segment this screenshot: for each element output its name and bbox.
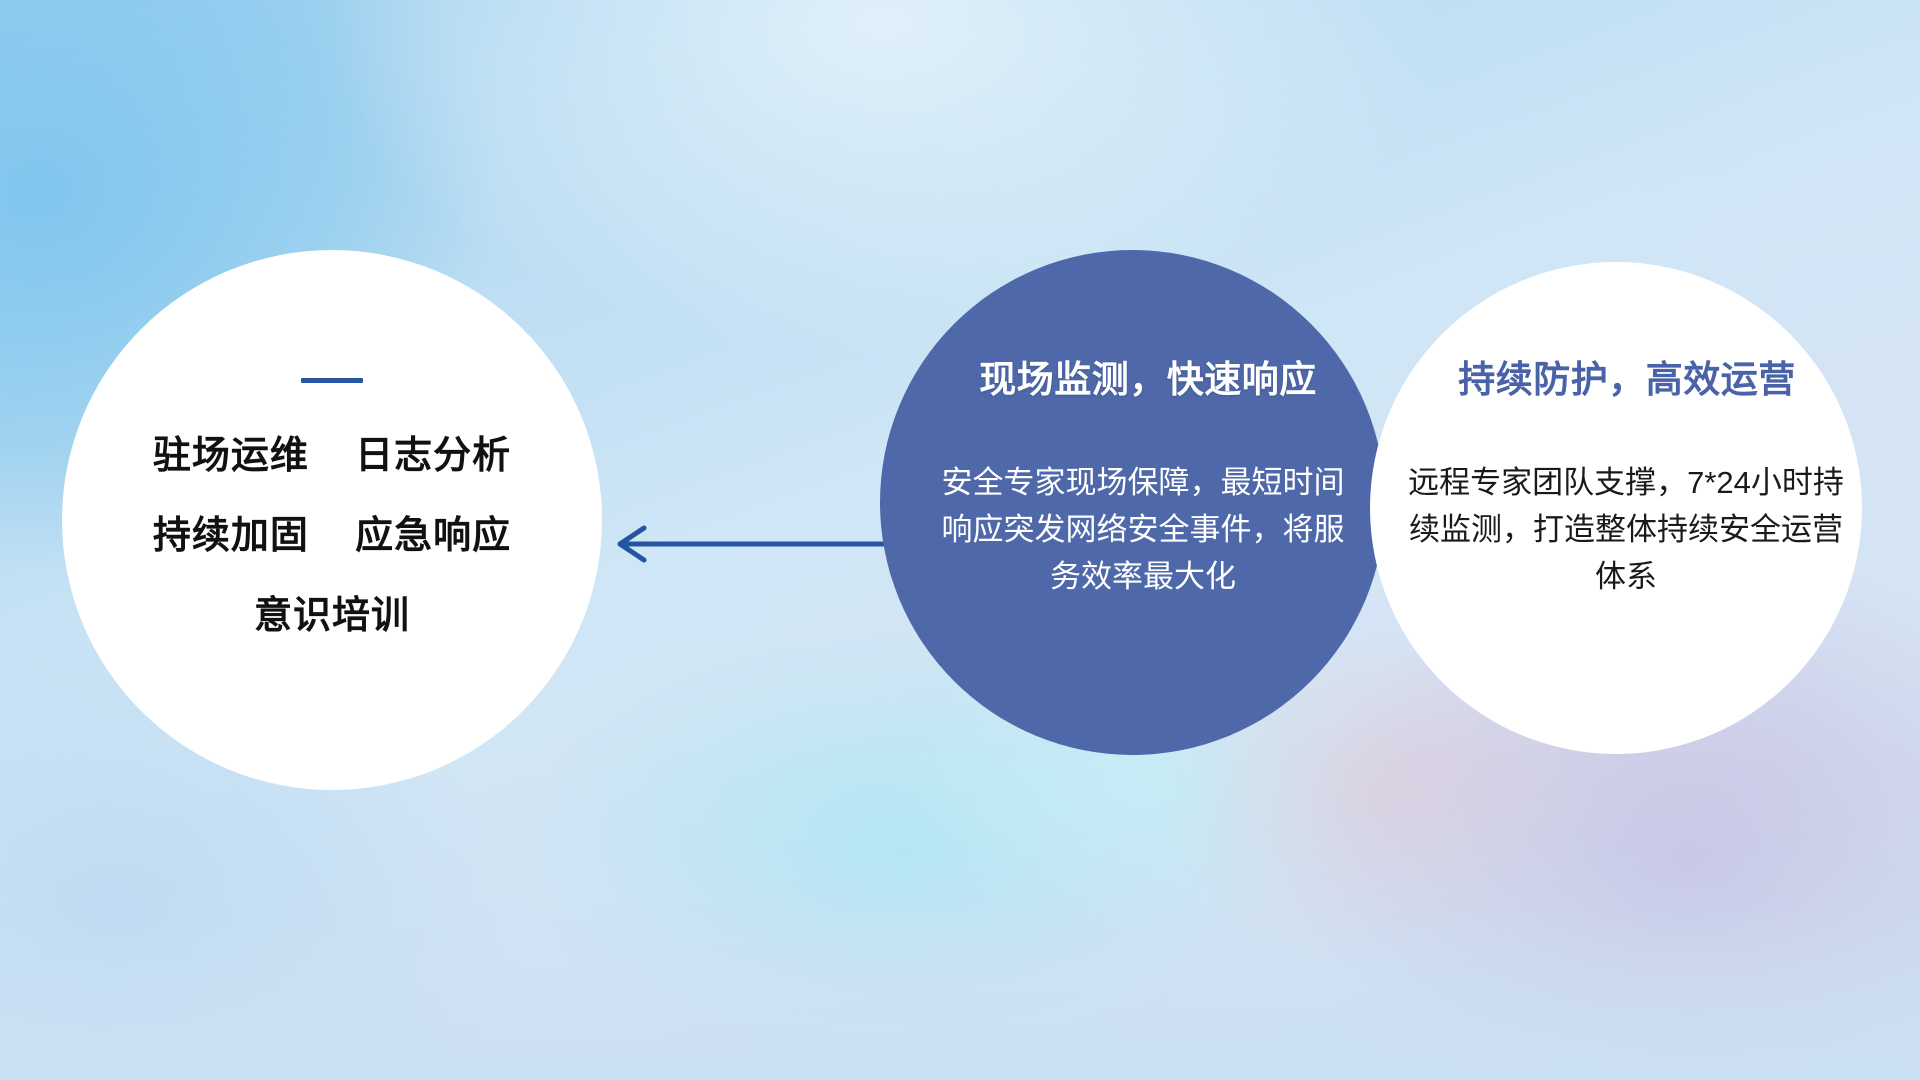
accent-dash-icon [301, 378, 363, 383]
middle-service-title: 现场监测，快速响应 [894, 360, 1364, 401]
middle-service-content: 现场监测，快速响应 安全专家现场保障，最短时间响应突发网络安全事件，将服务效率最… [894, 360, 1364, 600]
slide-canvas: 驻场运维 日志分析 持续加固 应急响应 意识培训 现场监测，快速响应 安全专家现… [0, 0, 1920, 1080]
left-service-content: 驻场运维 日志分析 持续加固 应急响应 意识培训 [62, 378, 602, 635]
flow-arrow-left-icon [600, 518, 900, 570]
left-service-circle[interactable]: 驻场运维 日志分析 持续加固 应急响应 意识培训 [62, 250, 602, 790]
right-service-title: 持续防护，高效运营 [1378, 360, 1856, 401]
left-service-line-1: 驻场运维 日志分析 [62, 437, 602, 475]
left-service-line-2: 持续加固 应急响应 [62, 517, 602, 555]
right-service-content: 持续防护，高效运营 远程专家团队支撑，7*24小时持续监测，打造整体持续安全运营… [1378, 360, 1856, 600]
middle-service-body: 安全专家现场保障，最短时间响应突发网络安全事件，将服务效率最大化 [894, 459, 1364, 600]
left-service-line-3: 意识培训 [62, 597, 602, 635]
right-service-body: 远程专家团队支撑，7*24小时持续监测，打造整体持续安全运营体系 [1378, 459, 1856, 600]
